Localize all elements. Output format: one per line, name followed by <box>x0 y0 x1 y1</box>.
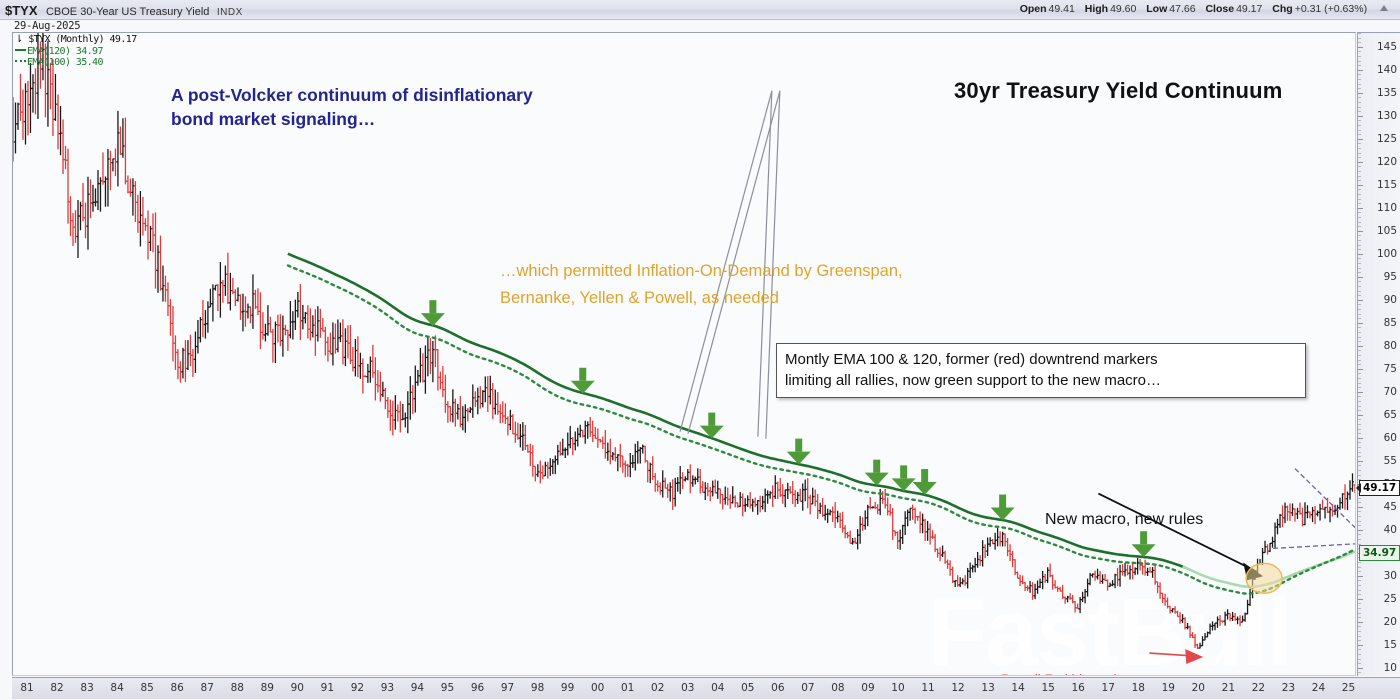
price-chart-panel[interactable]: ⇂ $TYX (Monthly) 49.17 EMA(120) 34.97 EM… <box>12 32 1356 676</box>
x-axis-tick-label: 90 <box>291 682 304 694</box>
y-axis-minor-tick <box>1358 240 1361 241</box>
y-axis-minor-tick <box>1358 511 1361 512</box>
y-axis-minor-tick <box>1358 419 1361 420</box>
y-axis-minor-tick <box>1358 654 1361 655</box>
x-axis-tick-label: 21 <box>1222 682 1235 694</box>
x-axis-tick-label: 00 <box>591 682 604 694</box>
y-axis-minor-tick <box>1358 33 1361 34</box>
x-axis-tick-label: 86 <box>170 682 183 694</box>
y-axis-minor-tick <box>1358 378 1361 379</box>
x-axis-tick-label: 88 <box>231 682 244 694</box>
y-axis-minor-tick <box>1358 360 1361 361</box>
y-axis-minor-tick <box>1358 51 1361 52</box>
x-axis-tick-label: 08 <box>831 682 844 694</box>
x-axis-tick-label: 15 <box>1041 682 1054 694</box>
chart-title: 30yr Treasury Yield Continuum <box>954 78 1283 104</box>
y-axis-tick-mark <box>1358 323 1363 324</box>
y-axis-tick-label: 70 <box>1384 386 1397 398</box>
y-axis-tick-mark <box>1358 599 1363 600</box>
x-axis-tick-label: 24 <box>1312 682 1325 694</box>
y-axis-minor-tick <box>1358 465 1361 466</box>
y-axis-tick-mark <box>1358 645 1363 646</box>
y-axis-minor-tick <box>1358 42 1361 43</box>
symbol-block: $TYX CBOE 30-Year US Treasury Yield INDX <box>5 2 243 20</box>
x-axis-tick-label: 23 <box>1282 682 1295 694</box>
y-axis-minor-tick <box>1358 194 1361 195</box>
y-axis-minor-tick <box>1358 502 1361 503</box>
y-axis-tick-mark <box>1358 254 1363 255</box>
y-axis-minor-tick <box>1358 571 1361 572</box>
y-axis-tick-label: 125 <box>1377 133 1397 145</box>
y-axis-tick-label: 45 <box>1384 501 1397 513</box>
y-axis-minor-tick <box>1358 314 1361 315</box>
y-axis-minor-tick <box>1358 567 1361 568</box>
last-price-flag: 49.17 <box>1359 480 1400 496</box>
x-axis-tick-label: 95 <box>441 682 454 694</box>
y-axis-tick-mark <box>1358 277 1363 278</box>
x-axis-tick-label: 06 <box>771 682 784 694</box>
y-axis-minor-tick <box>1358 534 1361 535</box>
y-axis-tick-label: 55 <box>1384 455 1397 467</box>
y-axis-minor-tick <box>1358 134 1361 135</box>
y-axis-minor-tick <box>1358 525 1361 526</box>
green-down-arrow-icon <box>913 469 937 495</box>
y-axis-minor-tick <box>1358 281 1361 282</box>
y-axis-tick-label: 90 <box>1384 294 1397 306</box>
y-axis-minor-tick <box>1358 309 1361 310</box>
y-axis-tick-label: 80 <box>1384 340 1397 352</box>
y-axis-minor-tick <box>1358 337 1361 338</box>
x-axis-tick-label: 85 <box>140 682 153 694</box>
y-axis-minor-tick <box>1358 295 1361 296</box>
chart-header-bar: $TYX CBOE 30-Year US Treasury Yield INDX… <box>0 0 1400 20</box>
quote-summary: Open49.41 High49.60 Low47.66 Close49.17 … <box>1020 3 1388 15</box>
x-axis: 8182838485868788899091929394959697989900… <box>12 677 1400 699</box>
x-axis-tick-label: 09 <box>861 682 874 694</box>
y-axis-minor-tick <box>1358 61 1361 62</box>
fastbull-watermark: FastBull <box>928 578 1291 676</box>
high-value: 49.60 <box>1110 3 1136 15</box>
y-axis-tick-mark <box>1358 116 1363 117</box>
stockcharts-screenshot: $TYX CBOE 30-Year US Treasury Yield INDX… <box>0 0 1400 700</box>
y-axis-minor-tick <box>1358 396 1361 397</box>
y-axis-minor-tick <box>1358 475 1361 476</box>
y-axis-minor-tick <box>1358 613 1361 614</box>
y-axis-minor-tick <box>1358 433 1361 434</box>
y-axis-minor-tick <box>1358 631 1361 632</box>
annotation-inflation-on-demand: …which permitted Inflation-On-Demand by … <box>500 258 903 312</box>
y-axis-minor-tick <box>1358 217 1361 218</box>
ema-price-flag: 34.97 <box>1359 545 1400 561</box>
y-axis-minor-tick <box>1358 97 1361 98</box>
x-axis-tick-label: 13 <box>981 682 994 694</box>
y-axis-minor-tick <box>1358 226 1361 227</box>
y-axis-minor-tick <box>1358 143 1361 144</box>
y-axis-minor-tick <box>1358 364 1361 365</box>
y-axis-minor-tick <box>1358 56 1361 57</box>
y-axis-minor-tick <box>1358 79 1361 80</box>
y-axis-tick-mark <box>1358 70 1363 71</box>
y-axis-minor-tick <box>1358 442 1361 443</box>
y-axis-tick-mark <box>1358 231 1363 232</box>
x-axis-tick-label: 99 <box>561 682 574 694</box>
x-axis-tick-label: 10 <box>891 682 904 694</box>
y-axis-minor-tick <box>1358 603 1361 604</box>
y-axis-minor-tick <box>1358 286 1361 287</box>
y-axis-tick-mark <box>1358 461 1363 462</box>
y-axis-tick-mark <box>1358 300 1363 301</box>
green-down-arrow-icon <box>991 495 1015 521</box>
y-axis-minor-tick <box>1358 341 1361 342</box>
y-axis-minor-tick <box>1358 516 1361 517</box>
y-axis-minor-tick <box>1358 157 1361 158</box>
symbol-index-tag: INDX <box>217 7 243 18</box>
y-axis-tick-mark <box>1358 438 1363 439</box>
y-axis-minor-tick <box>1358 203 1361 204</box>
symbol-description: CBOE 30-Year US Treasury Yield <box>46 6 209 18</box>
low-value: 47.66 <box>1169 3 1195 15</box>
y-axis-minor-tick <box>1358 452 1361 453</box>
y-axis: 1451401351301251201151101051009590858075… <box>1357 32 1400 676</box>
y-axis-tick-label: 95 <box>1384 271 1397 283</box>
y-axis-tick-label: 85 <box>1384 317 1397 329</box>
open-label: Open <box>1020 3 1047 15</box>
y-axis-tick-mark <box>1358 369 1363 370</box>
y-axis-tick-mark <box>1358 530 1363 531</box>
green-down-arrow-icon <box>700 413 724 439</box>
y-axis-tick-mark <box>1358 162 1363 163</box>
y-axis-tick-label: 105 <box>1377 225 1397 237</box>
y-axis-minor-tick <box>1358 153 1361 154</box>
chart-date: 29-Aug-2025 <box>14 20 80 32</box>
y-axis-minor-tick <box>1358 617 1361 618</box>
green-down-arrow-icon <box>421 300 445 326</box>
x-axis-tick-label: 02 <box>651 682 664 694</box>
y-axis-tick-label: 60 <box>1384 432 1397 444</box>
green-down-arrow-icon <box>1132 531 1156 557</box>
y-axis-tick-mark <box>1358 415 1363 416</box>
y-axis-minor-tick <box>1358 130 1361 131</box>
y-axis-tick-label: 25 <box>1384 593 1397 605</box>
x-axis-tick-label: 97 <box>501 682 514 694</box>
green-down-arrow-icon <box>571 368 595 394</box>
x-axis-tick-label: 05 <box>741 682 754 694</box>
y-axis-tick-label: 15 <box>1384 639 1397 651</box>
symbol-ticker: $TYX <box>5 3 38 18</box>
y-axis-minor-tick <box>1358 148 1361 149</box>
y-axis-minor-tick <box>1358 447 1361 448</box>
y-axis-minor-tick <box>1358 640 1361 641</box>
y-axis-minor-tick <box>1358 189 1361 190</box>
legend-main-series: ⇂ $TYX (Monthly) 49.17 <box>15 34 137 46</box>
wedge-trendlines <box>1273 469 1355 549</box>
close-label: Close <box>1205 3 1234 15</box>
y-axis-minor-tick <box>1358 327 1361 328</box>
y-axis-minor-tick <box>1358 268 1361 269</box>
y-axis-minor-tick <box>1358 406 1361 407</box>
y-axis-minor-tick <box>1358 659 1361 660</box>
y-axis-tick-mark <box>1358 93 1363 94</box>
y-axis-minor-tick <box>1358 562 1361 563</box>
y-axis-minor-tick <box>1358 608 1361 609</box>
y-axis-minor-tick <box>1358 263 1361 264</box>
y-axis-minor-tick <box>1358 166 1361 167</box>
chg-value: +0.31 (+0.63%) <box>1295 3 1367 15</box>
y-axis-minor-tick <box>1358 663 1361 664</box>
y-axis-tick-label: 40 <box>1384 524 1397 536</box>
y-axis-minor-tick <box>1358 456 1361 457</box>
y-axis-minor-tick <box>1358 649 1361 650</box>
y-axis-tick-mark <box>1358 346 1363 347</box>
legend-ema100: EMA(100) 35.40 <box>15 57 137 69</box>
x-axis-tick-label: 87 <box>201 682 214 694</box>
green-down-arrow-icon <box>865 460 889 486</box>
y-axis-tick-label: 135 <box>1377 87 1397 99</box>
legend-ema120: EMA(120) 34.97 <box>15 46 137 58</box>
y-axis-minor-tick <box>1358 235 1361 236</box>
y-axis-minor-tick <box>1358 107 1361 108</box>
y-axis-minor-tick <box>1358 180 1361 181</box>
y-axis-minor-tick <box>1358 585 1361 586</box>
x-axis-tick-label: 92 <box>351 682 364 694</box>
x-axis-tick-label: 25 <box>1342 682 1355 694</box>
y-axis-minor-tick <box>1358 212 1361 213</box>
green-down-arrow-icon <box>892 465 916 491</box>
y-axis-minor-tick <box>1358 84 1361 85</box>
y-axis-minor-tick <box>1358 199 1361 200</box>
x-axis-tick-label: 83 <box>80 682 93 694</box>
y-axis-minor-tick <box>1358 373 1361 374</box>
y-axis-minor-tick <box>1358 65 1361 66</box>
x-axis-tick-label: 19 <box>1162 682 1175 694</box>
y-axis-tick-label: 65 <box>1384 409 1397 421</box>
y-axis-tick-label: 145 <box>1377 41 1397 53</box>
y-axis-tick-mark <box>1358 185 1363 186</box>
new-macro-pointer-arrow <box>1098 494 1263 581</box>
y-axis-minor-tick <box>1358 636 1361 637</box>
x-axis-tick-label: 84 <box>110 682 123 694</box>
y-axis-tick-label: 30 <box>1384 570 1397 582</box>
y-axis-minor-tick <box>1358 424 1361 425</box>
y-axis-tick-label: 100 <box>1377 248 1397 260</box>
x-axis-tick-label: 01 <box>621 682 634 694</box>
y-axis-tick-mark <box>1358 208 1363 209</box>
y-axis-minor-tick <box>1358 626 1361 627</box>
annotation-post-volcker: A post-Volcker continuum of disinflation… <box>171 83 533 131</box>
x-axis-tick-label: 14 <box>1011 682 1024 694</box>
ema-callout-box: Montly EMA 100 & 120, former (red) downt… <box>776 343 1306 398</box>
y-axis-minor-tick <box>1358 125 1361 126</box>
y-axis-minor-tick <box>1358 88 1361 89</box>
callout-line-2: limiting all rallies, now green support … <box>785 370 1298 391</box>
up-triangle-icon <box>1380 5 1388 11</box>
x-axis-tick-label: 07 <box>801 682 814 694</box>
x-axis-tick-label: 22 <box>1252 682 1265 694</box>
y-axis-minor-tick <box>1358 222 1361 223</box>
y-axis-minor-tick <box>1358 383 1361 384</box>
y-axis-tick-mark <box>1358 47 1363 48</box>
chg-label: Chg <box>1272 3 1292 15</box>
y-axis-tick-label: 120 <box>1377 156 1397 168</box>
y-axis-minor-tick <box>1358 470 1361 471</box>
green-down-arrow-icon <box>787 439 811 465</box>
y-axis-tick-mark <box>1358 392 1363 393</box>
chart-legend: ⇂ $TYX (Monthly) 49.17 EMA(120) 34.97 EM… <box>15 34 137 69</box>
y-axis-tick-mark <box>1358 576 1363 577</box>
y-axis-minor-tick <box>1358 111 1361 112</box>
y-axis-tick-label: 115 <box>1377 179 1397 191</box>
y-axis-minor-tick <box>1358 272 1361 273</box>
x-axis-tick-label: 03 <box>681 682 694 694</box>
y-axis-minor-tick <box>1358 580 1361 581</box>
x-axis-tick-label: 94 <box>411 682 424 694</box>
x-axis-tick-label: 12 <box>951 682 964 694</box>
y-axis-minor-tick <box>1358 120 1361 121</box>
y-axis-minor-tick <box>1358 350 1361 351</box>
y-axis-tick-label: 110 <box>1377 202 1397 214</box>
y-axis-minor-tick <box>1358 594 1361 595</box>
y-axis-minor-tick <box>1358 318 1361 319</box>
x-axis-tick-label: 89 <box>261 682 274 694</box>
y-axis-minor-tick <box>1358 355 1361 356</box>
y-axis-tick-label: 20 <box>1384 616 1397 628</box>
annotation-powell-fed: Powell Fed blows the gasket on inflation <box>1001 670 1129 676</box>
y-axis-minor-tick <box>1358 304 1361 305</box>
callout-line-1: Montly EMA 100 & 120, former (red) downt… <box>785 349 1298 370</box>
x-axis-tick-label: 91 <box>321 682 334 694</box>
y-axis-minor-tick <box>1358 176 1361 177</box>
y-axis-minor-tick <box>1358 332 1361 333</box>
ema120-swatch-icon <box>15 49 26 51</box>
annotation-new-macro: New macro, new rules <box>1045 511 1203 529</box>
high-label: High <box>1085 3 1108 15</box>
y-axis-minor-tick <box>1358 498 1361 499</box>
y-axis-minor-tick <box>1358 102 1361 103</box>
x-axis-tick-label: 98 <box>531 682 544 694</box>
y-axis-minor-tick <box>1358 590 1361 591</box>
x-axis-tick-label: 96 <box>471 682 484 694</box>
open-value: 49.41 <box>1049 3 1075 15</box>
ema100-line <box>288 265 1355 593</box>
y-axis-minor-tick <box>1358 539 1361 540</box>
y-axis-minor-tick <box>1358 74 1361 75</box>
price-flag-nib-icon <box>1356 483 1361 493</box>
y-axis-minor-tick <box>1358 258 1361 259</box>
y-axis-tick-mark <box>1358 507 1363 508</box>
y-axis-minor-tick <box>1358 38 1361 39</box>
y-axis-minor-tick <box>1358 410 1361 411</box>
close-value: 49.17 <box>1236 3 1262 15</box>
x-axis-tick-label: 17 <box>1102 682 1115 694</box>
x-axis-tick-label: 16 <box>1072 682 1085 694</box>
x-axis-tick-label: 18 <box>1132 682 1145 694</box>
y-axis-minor-tick <box>1358 291 1361 292</box>
y-axis-tick-label: 130 <box>1377 110 1397 122</box>
y-axis-minor-tick <box>1358 672 1361 673</box>
x-axis-tick-label: 82 <box>50 682 63 694</box>
y-axis-tick-label: 10 <box>1384 662 1397 674</box>
x-axis-tick-label: 11 <box>921 682 934 694</box>
y-axis-minor-tick <box>1358 521 1361 522</box>
x-axis-tick-label: 81 <box>20 682 33 694</box>
y-axis-minor-tick <box>1358 429 1361 430</box>
y-axis-minor-tick <box>1358 401 1361 402</box>
y-axis-tick-mark <box>1358 139 1363 140</box>
y-axis-tick-mark <box>1358 668 1363 669</box>
y-axis-tick-label: 75 <box>1384 363 1397 375</box>
y-axis-minor-tick <box>1358 387 1361 388</box>
x-axis-tick-label: 20 <box>1192 682 1205 694</box>
low-label: Low <box>1146 3 1167 15</box>
x-axis-tick-label: 04 <box>711 682 724 694</box>
ema100-swatch-icon <box>15 60 26 62</box>
y-axis-minor-tick <box>1358 171 1361 172</box>
y-axis-tick-mark <box>1358 622 1363 623</box>
y-axis-minor-tick <box>1358 249 1361 250</box>
x-axis-tick-label: 93 <box>381 682 394 694</box>
y-axis-minor-tick <box>1358 245 1361 246</box>
y-axis-tick-label: 140 <box>1377 64 1397 76</box>
